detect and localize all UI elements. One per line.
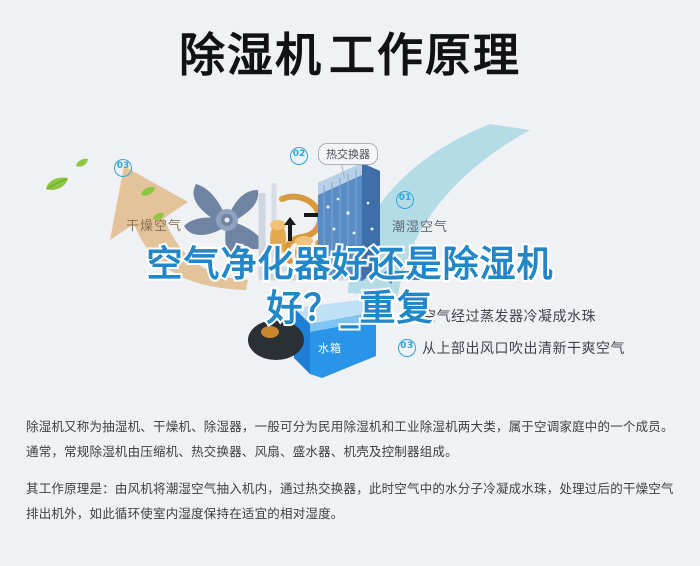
step-text: 从上部出风口吹出清新干爽空气 bbox=[422, 338, 625, 358]
article-paragraph-1: 除湿机又称为抽湿机、干燥机、除湿器，一般可分为民用除湿机和工业除湿机两大类，属于… bbox=[26, 414, 678, 464]
badge-02: 02 bbox=[290, 146, 308, 165]
machine-base bbox=[246, 318, 316, 368]
title-part-2: 工作原理 bbox=[329, 28, 521, 82]
article-paragraph-2: 其工作原理是：由风机将潮湿空气抽入机内，通过热交换器，此时空气中的水分子冷凝成水… bbox=[26, 476, 678, 526]
badge-03: 03 bbox=[114, 158, 132, 177]
article-body: 除湿机又称为抽湿机、干燥机、除湿器，一般可分为民用除湿机和工业除湿机两大类，属于… bbox=[26, 414, 678, 538]
badge-01: 01 bbox=[396, 190, 414, 209]
badge-02-number: 02 bbox=[290, 147, 308, 165]
step-list: 02 空气经过蒸发器冷凝成水珠 03 从上部出风口吹出清新干爽空气 bbox=[398, 300, 688, 364]
humid-air-inlet-arrow bbox=[378, 268, 424, 288]
title-part-1: 除湿机 bbox=[179, 28, 323, 82]
badge-03-number: 03 bbox=[114, 159, 132, 177]
leaf-icon bbox=[152, 206, 165, 225]
evaporator-coil-block bbox=[318, 163, 380, 283]
page-root: 除湿机工作原理 干燥空气 bbox=[0, 0, 700, 566]
badge-01-number: 01 bbox=[396, 191, 414, 209]
step-item: 03 从上部出风口吹出清新干爽空气 bbox=[398, 332, 688, 364]
leaf-icon bbox=[140, 182, 156, 201]
leaf-icon bbox=[75, 153, 89, 172]
infographic-title: 除湿机工作原理 bbox=[0, 28, 700, 82]
step-number: 03 bbox=[398, 339, 416, 357]
step-text: 空气经过蒸发器冷凝成水珠 bbox=[422, 306, 596, 326]
infographic-image: 除湿机工作原理 干燥空气 bbox=[0, 0, 700, 400]
leaf-icon bbox=[44, 176, 70, 196]
humid-air-label: 潮湿空气 bbox=[392, 216, 448, 235]
water-tank-label: 水箱 bbox=[318, 340, 342, 356]
heat-exchanger-callout: 热交换器 bbox=[318, 143, 378, 165]
step-item: 02 空气经过蒸发器冷凝成水珠 bbox=[398, 300, 688, 332]
